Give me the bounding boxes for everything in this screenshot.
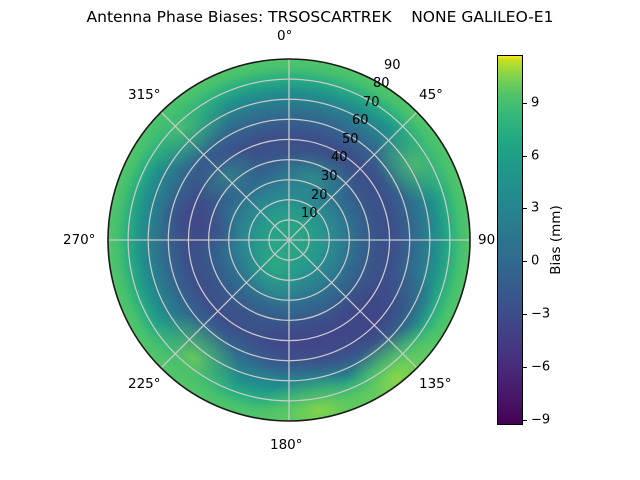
- colorbar-tick-line-neg9: [523, 420, 527, 421]
- radial-tick-50: 50: [342, 132, 359, 147]
- radial-tick-30: 30: [321, 169, 338, 184]
- colorbar-tick-label-neg3: −3: [531, 306, 550, 321]
- colorbar-tick-line-0: [523, 261, 527, 262]
- angular-tick-90: 90: [478, 232, 495, 248]
- radial-tick-80: 80: [373, 76, 390, 91]
- angular-tick-0: 0°: [277, 28, 292, 44]
- colorbar-tick-line-neg6: [523, 367, 527, 368]
- colorbar-tick-label-3: 3: [531, 201, 539, 216]
- colorbar-tick-line-3: [523, 208, 527, 209]
- radial-tick-10: 10: [301, 206, 318, 221]
- radial-tick-60: 60: [352, 113, 369, 128]
- angular-tick-45: 45°: [419, 87, 443, 103]
- angular-tick-270: 270°: [63, 232, 96, 248]
- colorbar-tick-label-0: 0: [531, 254, 539, 269]
- radial-tick-90: 90: [384, 58, 401, 73]
- angular-gridlines: [108, 59, 470, 421]
- colorbar-tick-line-neg3: [523, 314, 527, 315]
- colorbar-axis-label: Bias (mm): [548, 205, 564, 274]
- polar-plot-axes[interactable]: 10 20 30 40 50 60 70 80 90: [107, 58, 471, 422]
- radial-tick-40: 40: [331, 150, 348, 165]
- polar-field-svg: [107, 58, 471, 422]
- radial-tick-20: 20: [311, 188, 328, 203]
- radial-tick-70: 70: [363, 95, 380, 110]
- colorbar[interactable]: 9 6 3 0 −3 −6 −9: [497, 55, 523, 425]
- angular-tick-315: 315°: [128, 87, 161, 103]
- angular-tick-135: 135°: [419, 376, 452, 392]
- angular-tick-180: 180°: [270, 437, 303, 453]
- angular-tick-225: 225°: [128, 376, 161, 392]
- colorbar-tick-label-neg9: −9: [531, 412, 550, 427]
- colorbar-tick-line-6: [523, 156, 527, 157]
- page-title: Antenna Phase Biases: TRSOSCARTREK NONE …: [0, 8, 640, 26]
- figure-canvas: Antenna Phase Biases: TRSOSCARTREK NONE …: [0, 0, 640, 480]
- colorbar-tick-line-9: [523, 103, 527, 104]
- colorbar-tick-label-9: 9: [531, 95, 539, 110]
- colorbar-tick-label-6: 6: [531, 148, 539, 163]
- colorbar-gradient: [497, 55, 523, 425]
- colorbar-tick-label-neg6: −6: [531, 359, 550, 374]
